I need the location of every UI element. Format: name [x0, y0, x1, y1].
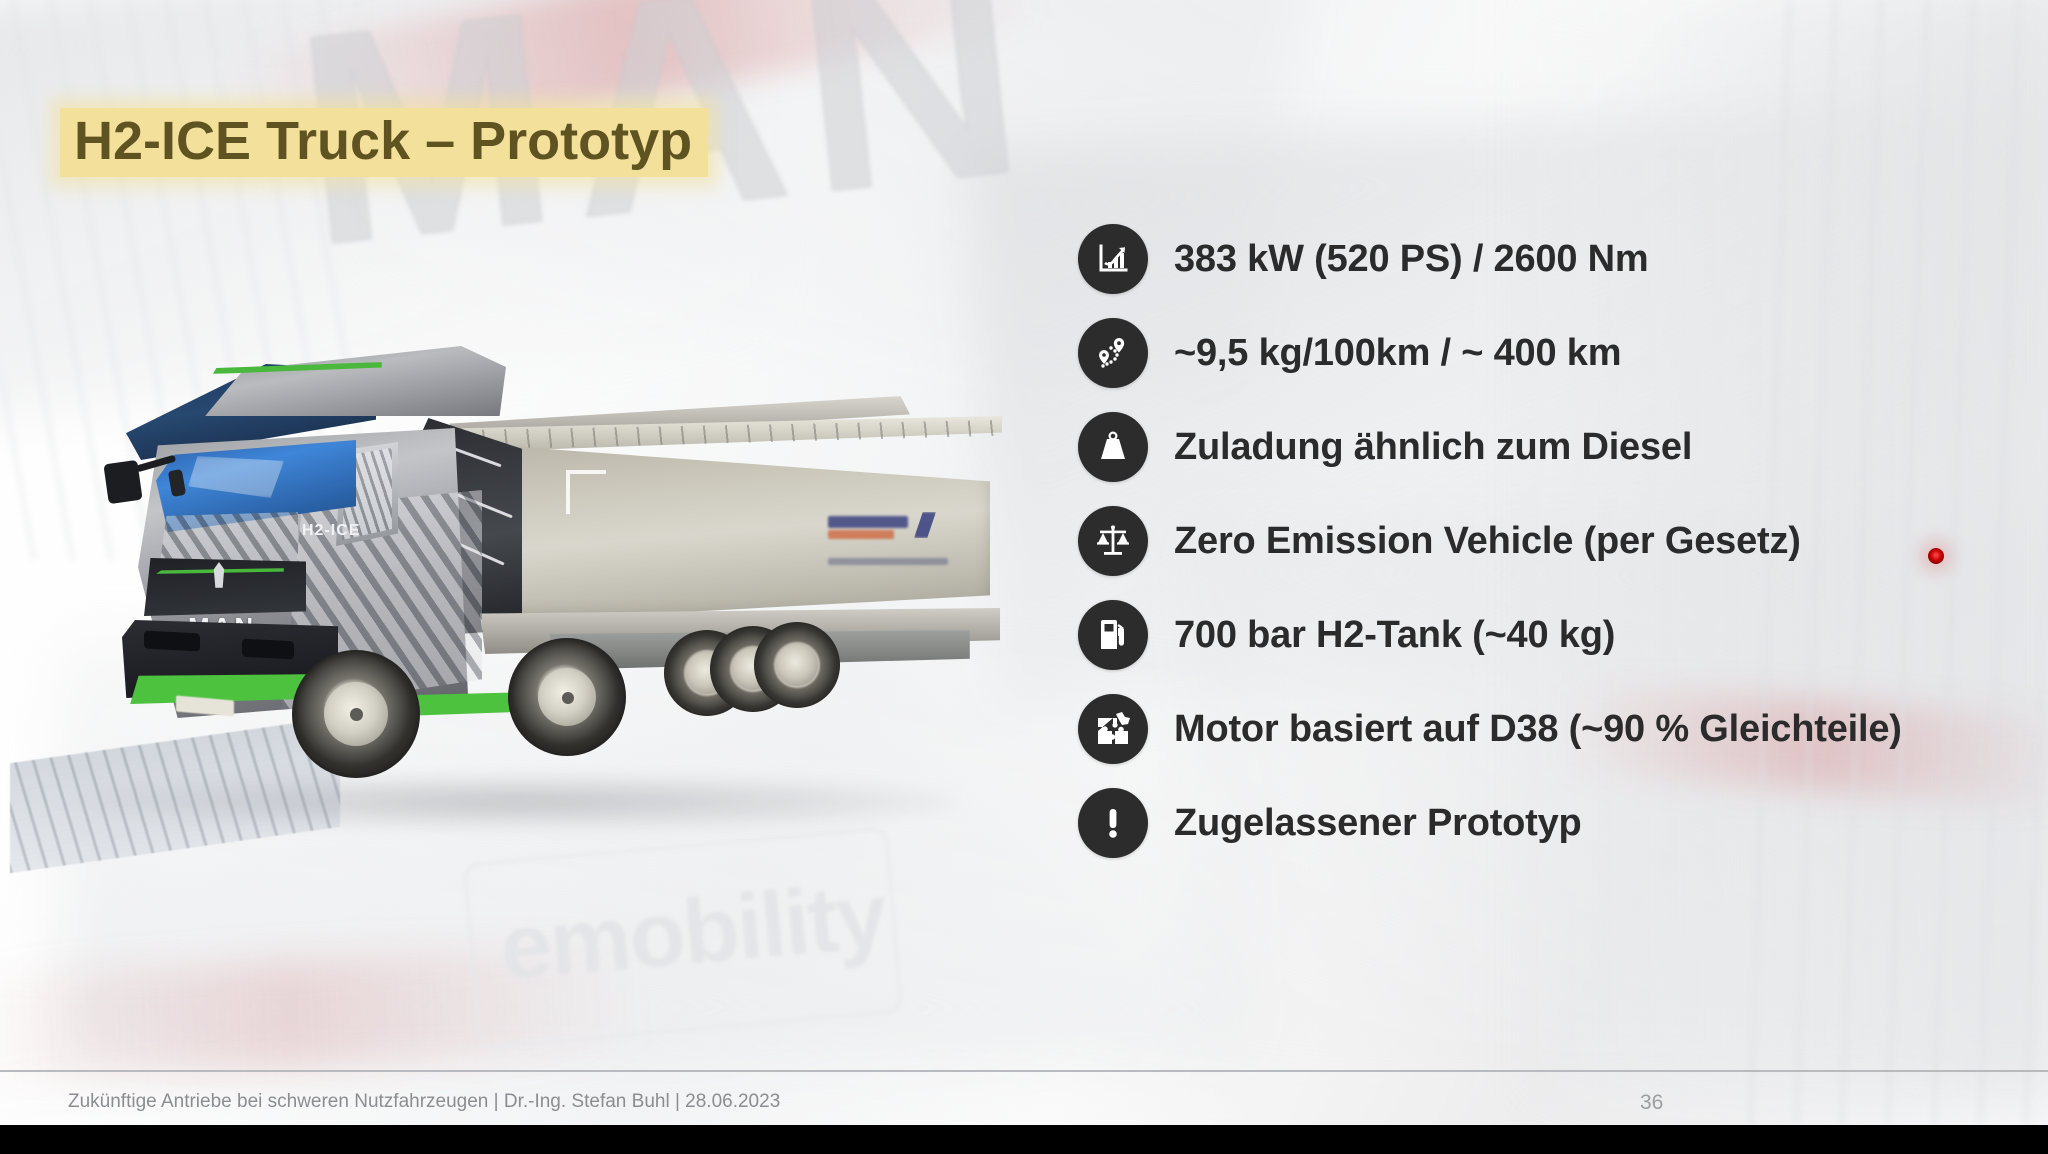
cab-grille: [144, 558, 306, 616]
balance-scales-icon: [1078, 506, 1148, 576]
trailer-brand-subtitle: [828, 558, 948, 565]
list-item-label: 700 bar H2-Tank (~40 kg): [1174, 614, 1615, 657]
list-item-label: Zugelassener Prototyp: [1174, 802, 1582, 845]
spec-bullet-list: 383 kW (520 PS) / 2600 Nm ~9,5: [1078, 230, 1978, 888]
performance-chart-icon: [1078, 224, 1148, 294]
list-item: Zugelassener Prototyp: [1078, 794, 1978, 852]
cab-mirror: [103, 460, 142, 504]
list-item-label: ~9,5 kg/100km / ~ 400 km: [1174, 332, 1621, 375]
page-title-wrapper: H2-ICE Truck – Prototyp: [60, 108, 708, 177]
page-title: H2-ICE Truck – Prototyp: [60, 108, 708, 177]
fuel-pump-icon: [1078, 600, 1148, 670]
footer-text: Zukünftige Antriebe bei schweren Nutzfah…: [68, 1091, 780, 1113]
wheel-hub-bolt: [562, 692, 574, 704]
list-item-label: Zero Emission Vehicle (per Gesetz): [1174, 520, 1801, 563]
trailer-wheel-hub: [776, 644, 818, 686]
list-item: ~9,5 kg/100km / ~ 400 km: [1078, 324, 1978, 382]
list-item: Motor basiert auf D38 (~90 % Gleichteile…: [1078, 700, 1978, 758]
truck-shadow: [80, 775, 960, 829]
puzzle-pieces-icon: [1078, 694, 1148, 764]
footer-divider: [0, 1070, 2048, 1072]
list-item: Zuladung ähnlich zum Diesel: [1078, 418, 1978, 476]
route-map-pins-icon: [1078, 318, 1148, 388]
exclamation-mark-icon: [1078, 788, 1148, 858]
list-item-label: 383 kW (520 PS) / 2600 Nm: [1174, 238, 1648, 281]
cab-headlamp: [242, 639, 294, 660]
trailer-brand-logo: [828, 512, 948, 546]
list-item: 700 bar H2-Tank (~40 kg): [1078, 606, 1978, 664]
page-number: 36: [1640, 1091, 1663, 1115]
list-item: Zero Emission Vehicle (per Gesetz): [1078, 512, 1978, 570]
trailer-corner-mark: [566, 470, 606, 514]
truck-photo: H2-ICE MAN: [10, 320, 1020, 850]
list-item-label: Motor basiert auf D38 (~90 % Gleichteile…: [1174, 708, 1902, 751]
list-item: 383 kW (520 PS) / 2600 Nm: [1078, 230, 1978, 288]
cab-headlamp: [144, 631, 200, 652]
wheel-hub-bolt: [350, 708, 363, 721]
weight-payload-icon: [1078, 412, 1148, 482]
list-item-label: Zuladung ähnlich zum Diesel: [1174, 426, 1692, 469]
slide-canvas: MAN emobility: [0, 0, 2048, 1125]
cab-model-badge: H2-ICE: [302, 522, 412, 544]
bottom-letterbox-bar: [0, 1125, 2048, 1154]
